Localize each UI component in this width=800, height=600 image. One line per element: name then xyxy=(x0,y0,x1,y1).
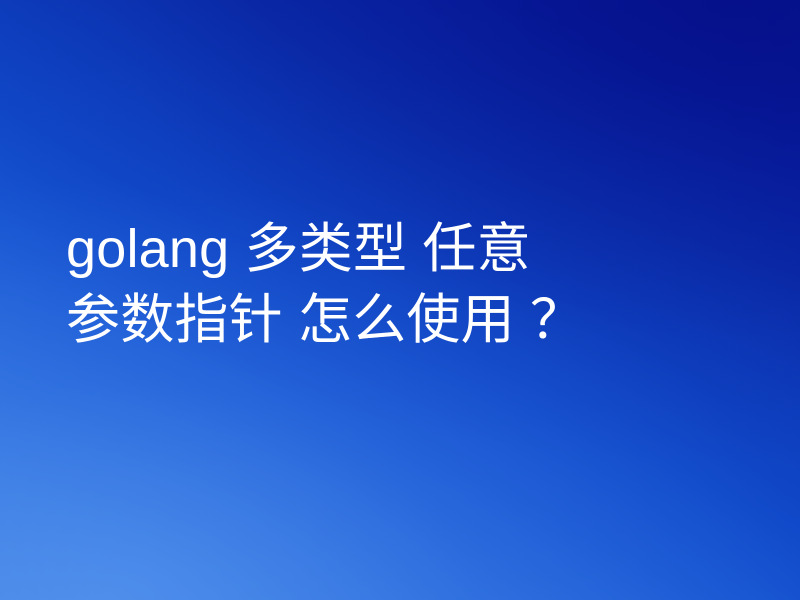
title-line-2: 参数指针 怎么使用 ？ xyxy=(66,285,756,356)
title-card: golang 多类型 任意 参数指针 怎么使用 ？ xyxy=(0,0,800,600)
title-line-1: golang 多类型 任意 xyxy=(66,214,756,285)
title-text-block: golang 多类型 任意 参数指针 怎么使用 ？ xyxy=(66,214,756,356)
